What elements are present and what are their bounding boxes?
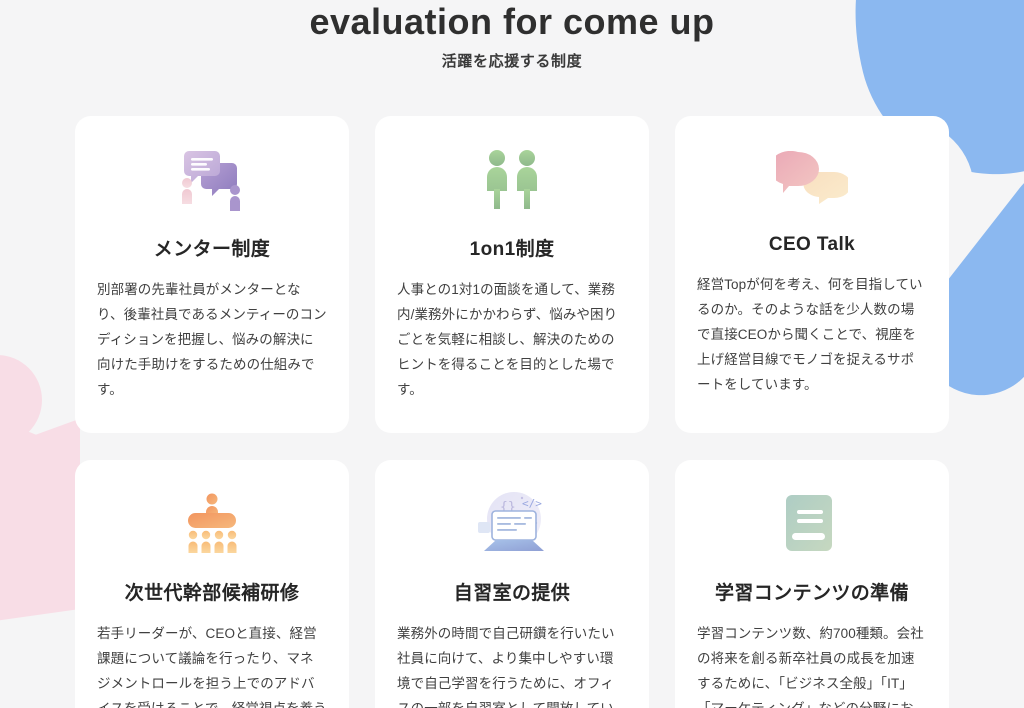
card-mentor-program[interactable]: メンター制度 別部署の先輩社員がメンターとなり、後輩社員であるメンティーのコンデ… (75, 116, 349, 433)
two-people-icon (397, 142, 627, 218)
card-title: CEO Talk (697, 234, 927, 256)
card-title: 1on1制度 (397, 234, 627, 261)
card-title: 学習コンテンツの準備 (697, 578, 927, 605)
card-body: 若手リーダーが、CEOと直接、経営課題について議論を行ったり、マネジメントロール… (97, 622, 327, 708)
page-container: evaluation for come up 活躍を応援する制度 (0, 0, 1024, 708)
card-body: 人事との1対1の面談を通して、業務内/業務外にかかわらず、悩みや困りごとを気軽に… (397, 278, 627, 403)
card-body: 別部署の先輩社員がメンターとなり、後輩社員であるメンティーのコンディションを把握… (97, 278, 327, 403)
book-icon (697, 486, 927, 562)
card-body: 学習コンテンツ数、約700種類。会社の将来を創る新卒社員の成長を加速するために、… (697, 622, 927, 708)
speech-bubbles-icon (697, 142, 927, 218)
svg-text:</>: </> (522, 497, 542, 510)
card-body: 業務外の時間で自己研鑽を行いたい社員に向けて、より集中しやすい環境で自己学習を行… (397, 622, 627, 708)
card-title: 自習室の提供 (397, 578, 627, 605)
card-title: 次世代幹部候補研修 (97, 578, 327, 605)
mentor-chat-bubbles-icon (97, 142, 327, 218)
card-ceo-talk[interactable]: CEO Talk 経営Topが何を考え、何を目指しているのか。そのような話を少人… (675, 116, 949, 433)
card-study-room[interactable]: {} </> 自習室の提供 業務外の時間で自己研鑽を行いたい (375, 460, 649, 708)
benefits-card-grid: メンター制度 別部署の先輩社員がメンターとなり、後輩社員であるメンティーのコンデ… (75, 116, 949, 708)
page-subtitle: 活躍を応援する制度 (75, 50, 949, 71)
card-body: 経営Topが何を考え、何を目指しているのか。そのような話を少人数の場で直接CEO… (697, 273, 927, 398)
laptop-code-icon: {} </> (397, 486, 627, 562)
card-next-gen-leader-training[interactable]: 次世代幹部候補研修 若手リーダーが、CEOと直接、経営課題について議論を行ったり… (75, 460, 349, 708)
card-one-on-one-program[interactable]: 1on1制度 人事との1対1の面談を通して、業務内/業務外にかかわらず、悩みや困… (375, 116, 649, 433)
card-title: メンター制度 (97, 234, 327, 261)
page-title: evaluation for come up (75, 0, 949, 42)
section-header: evaluation for come up 活躍を応援する制度 (75, 0, 949, 71)
org-chart-leader-icon (97, 486, 327, 562)
card-learning-content[interactable]: 学習コンテンツの準備 学習コンテンツ数、約700種類。会社の将来を創る新卒社員の… (675, 460, 949, 708)
